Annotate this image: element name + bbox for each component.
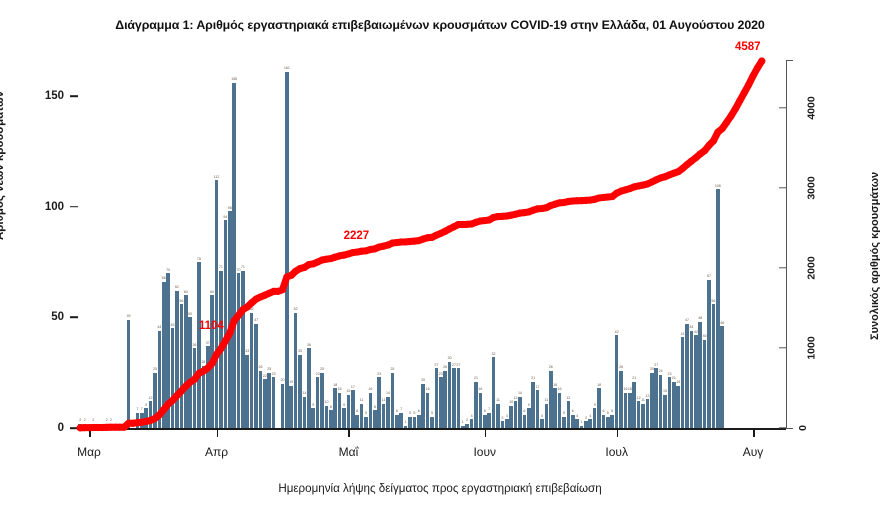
x-tick-label: Αυγ [743,445,764,459]
y-axis-label-right: Συνολικός αριθμός κρουσμάτων [869,172,880,340]
cumulative-point [217,345,224,352]
cumulative-point [231,317,238,324]
cumulative-point [226,330,233,337]
cumulative-point [191,376,198,383]
y-tick-label-left: 50 [51,311,64,323]
cumulative-point [719,125,726,132]
y-tick-mark-left [70,95,78,97]
y-tick-label-right: 0 [797,425,809,431]
cumulative-point [732,105,739,112]
y-axis-label-left: Αριθμός νέων κρουσμάτων [0,91,6,240]
x-tick-label: Ιουλ [605,445,628,459]
x-tick-label: Απρ [205,445,228,459]
cumulative-line [80,61,762,428]
cumulative-annotation: 4587 [735,41,761,53]
y-tick-mark-right [779,347,786,348]
x-tick-label: Μαρ [77,445,101,459]
x-tick-mark [485,429,487,437]
cumulative-annotation: 2227 [344,230,370,242]
cumulative-point [235,312,242,319]
y-axis-right-spine [786,60,787,428]
y-tick-label-right: 4000 [806,96,818,119]
cumulative-point [745,81,752,88]
x-tick-mark [348,429,350,437]
y-tick-label-left: 150 [45,90,64,102]
x-tick-mark [753,429,755,437]
x-tick-label: Μαΐ [339,445,359,459]
cumulative-point [160,406,167,413]
cumulative-point [754,64,761,71]
y-tick-mark-left [70,206,78,208]
cumulative-point [279,286,286,293]
y-tick-label-left: 100 [45,201,64,213]
cumulative-point [749,72,756,79]
cumulative-point [723,119,730,126]
cumulative-point [710,137,717,144]
right-spine-cap-top [786,60,793,61]
y-tick-mark-right [779,267,786,268]
chart-title: Διάγραμμα 1: Αριθμός εργαστηριακά επιβεβ… [0,18,880,32]
cumulative-annotation: 1104 [199,320,224,332]
y-tick-mark-left [70,317,78,319]
cumulative-point [727,112,734,119]
x-tick-mark [217,429,219,437]
cumulative-line-layer [78,52,764,428]
x-tick-label: Ιουν [473,445,496,459]
cumulative-point [209,360,216,367]
cumulative-point [222,338,229,345]
y-tick-mark-right [779,427,786,428]
cumulative-point [213,351,220,358]
x-tick-mark [617,429,619,437]
x-axis-label: Ημερομηνία λήψης δείγματος προς εργαστηρ… [0,482,880,495]
cumulative-point [758,57,765,64]
cumulative-point [741,89,748,96]
y-tick-label-right: 3000 [806,176,818,199]
chart-figure: Διάγραμμα 1: Αριθμός εργαστηριακά επιβεβ… [0,0,880,511]
y-tick-label-left: 0 [58,422,64,434]
y-tick-mark-right [779,107,786,108]
cumulative-point [736,97,743,104]
y-tick-label-right: 2000 [806,256,818,279]
right-spine-cap-bottom [786,428,793,429]
x-axis-spine [78,428,786,430]
y-tick-mark-right [779,187,786,188]
y-tick-label-right: 1000 [806,336,818,359]
plot-area: 2222249779122544667045625660503675283760… [78,52,764,428]
